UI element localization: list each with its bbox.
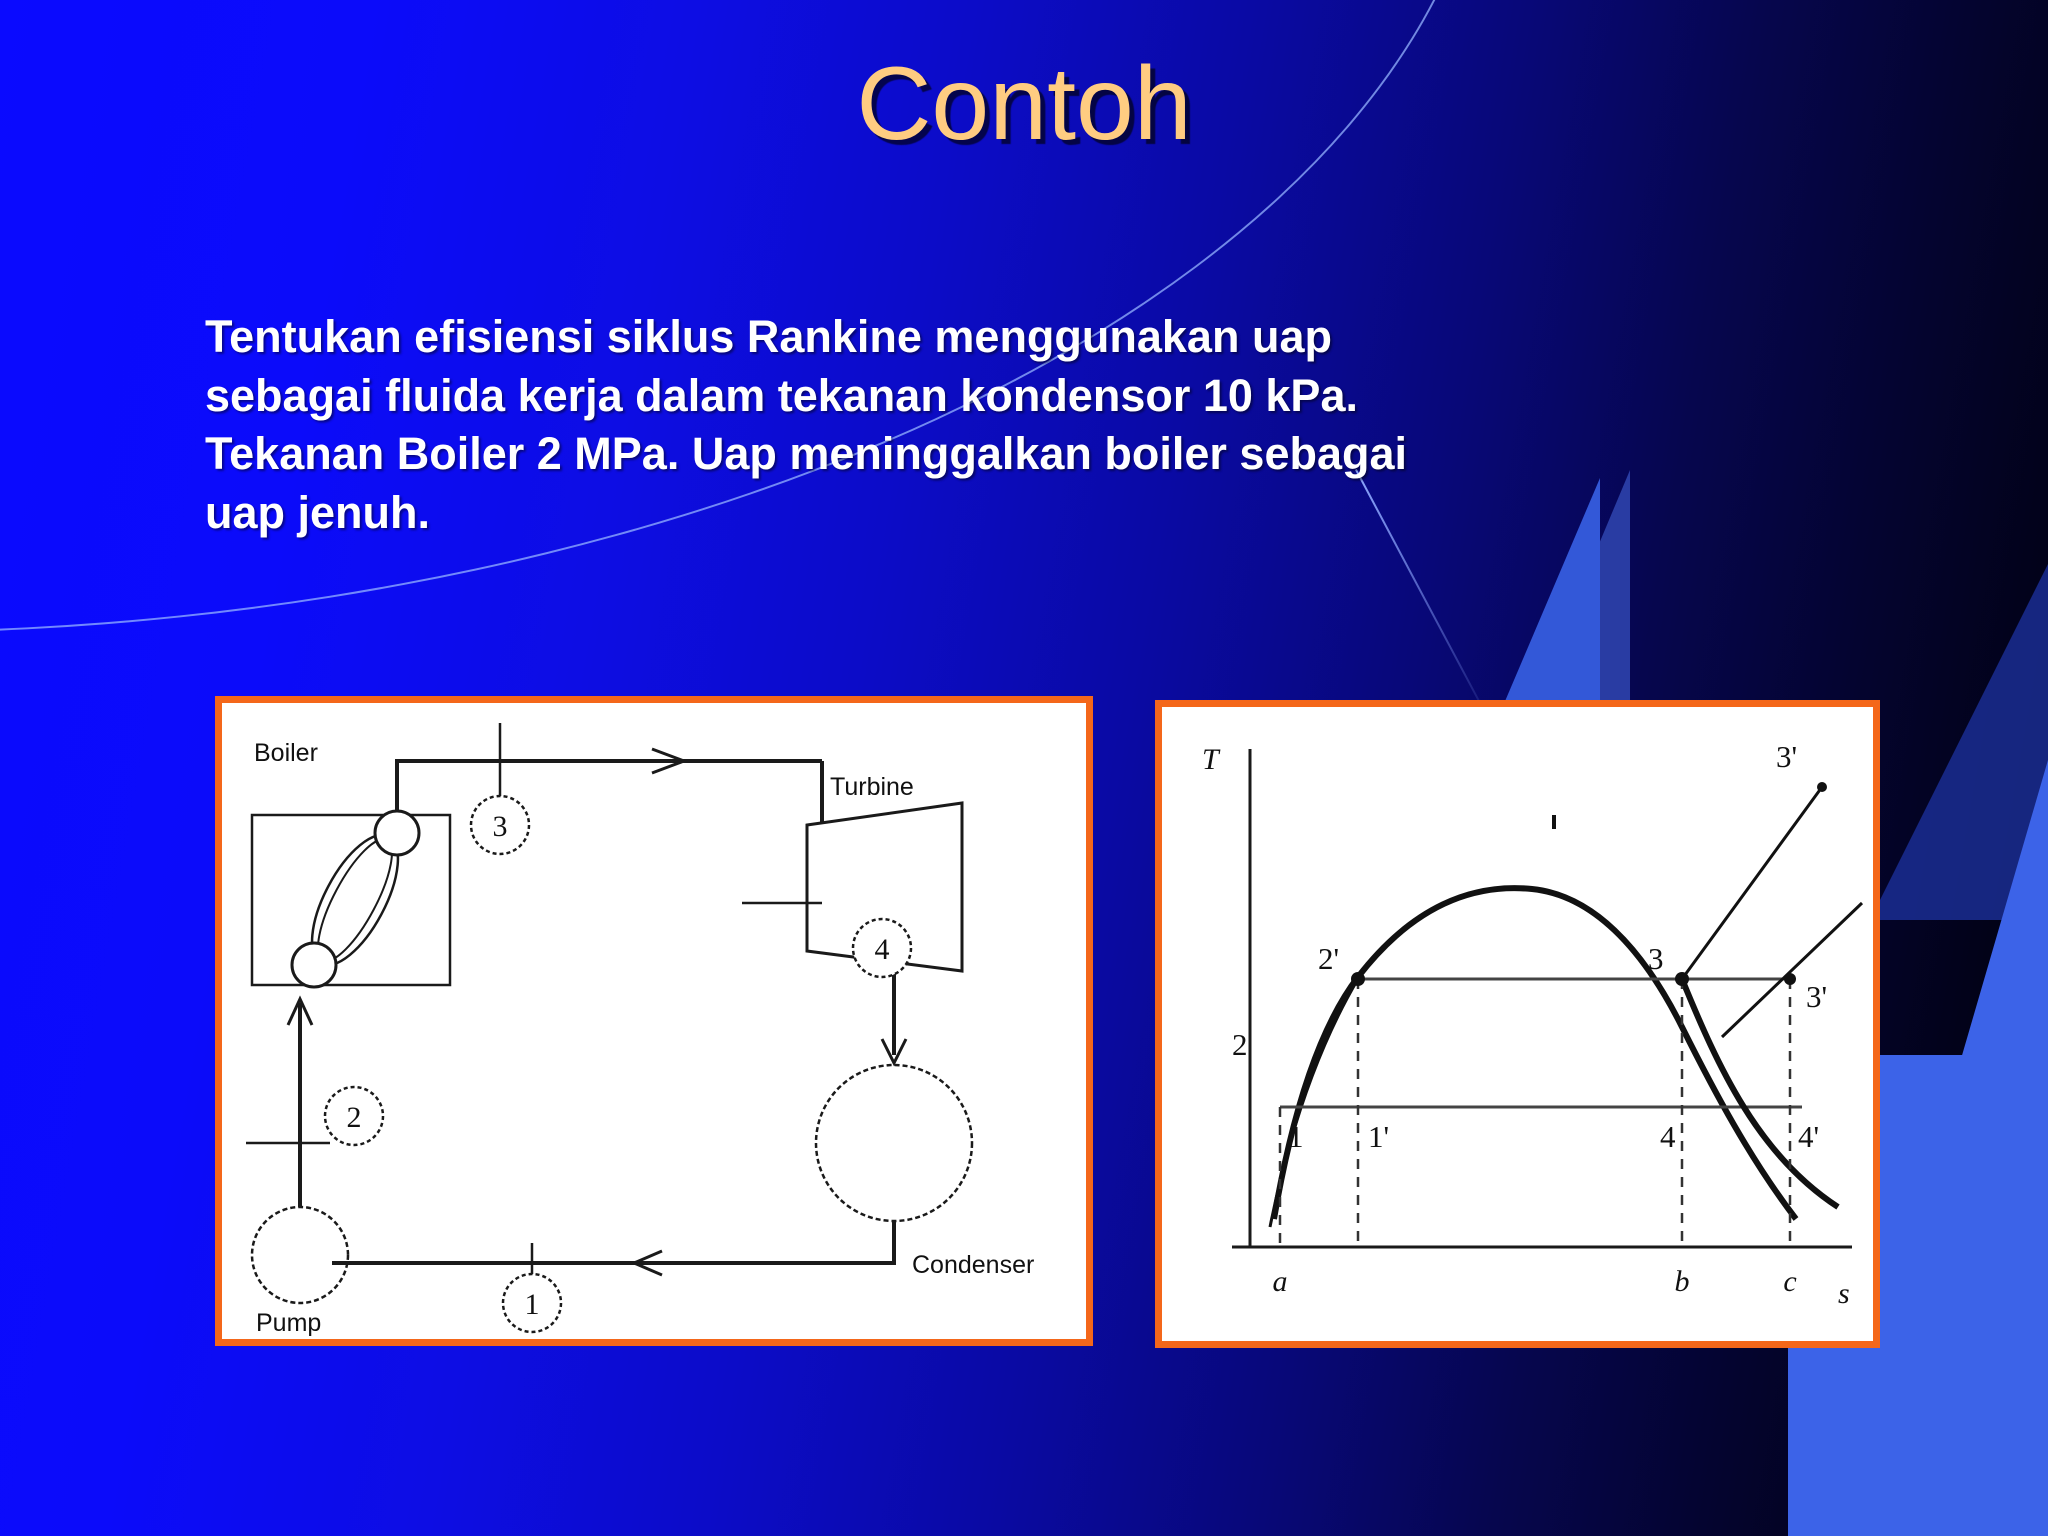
condenser-body	[816, 1065, 972, 1221]
ts-label-3: 3	[1648, 941, 1664, 976]
ts-label-3prime-lower: 3'	[1806, 979, 1827, 1014]
ts-label-2prime: 2'	[1318, 941, 1339, 976]
ts-label-1prime: 1'	[1368, 1119, 1389, 1154]
ts-label-4: 4	[1660, 1119, 1676, 1154]
pump-label: Pump	[256, 1309, 321, 1337]
state-label-3: 3	[493, 810, 508, 843]
body-line-1: Tentukan efisiensi siklus Rankine menggu…	[205, 308, 1865, 367]
axis-label-s: s	[1838, 1277, 1850, 1310]
slide-title: Contoh	[0, 52, 2048, 156]
ts-label-1: 1	[1288, 1119, 1304, 1154]
boiler-enclosure	[252, 815, 450, 985]
state-label-1: 1	[525, 1288, 540, 1321]
ts-diagram-svg: T s a b c 2 2' 1 1' 3 3' 3' 4 4'	[1162, 707, 1873, 1341]
boiler-drum-top	[375, 811, 419, 855]
boiler-drum-bottom	[292, 943, 336, 987]
pipe-boiler-to-turbine	[397, 761, 822, 811]
superheat-line-upper	[1682, 787, 1822, 979]
body-line-4: uap jenuh.	[205, 484, 1865, 543]
condenser-label: Condenser	[912, 1251, 1034, 1279]
point-3	[1675, 972, 1689, 986]
compressed-liquid-curve	[1270, 979, 1358, 1227]
ts-label-3prime-upper: 3'	[1776, 739, 1797, 774]
point-3prime-upper	[1817, 782, 1827, 792]
state-point-markers	[1351, 782, 1827, 986]
axis-label-T: T	[1202, 743, 1221, 776]
slide-body-text: Tentukan efisiensi siklus Rankine menggu…	[205, 308, 1865, 542]
body-line-3: Tekanan Boiler 2 MPa. Uap meninggalkan b…	[205, 425, 1865, 484]
state-label-2: 2	[347, 1101, 362, 1134]
boiler-label: Boiler	[254, 739, 318, 767]
slide-canvas: Contoh Tentukan efisiensi siklus Rankine…	[0, 0, 2048, 1536]
xtick-a: a	[1273, 1265, 1288, 1298]
superheat-line-lower	[1722, 903, 1862, 1037]
ts-diagram-figure: T s a b c 2 2' 1 1' 3 3' 3' 4 4'	[1155, 700, 1880, 1348]
point-2prime	[1351, 972, 1365, 986]
pipe-condenser-to-pump	[332, 1221, 894, 1263]
xtick-b: b	[1675, 1265, 1690, 1298]
point-3prime-lower	[1784, 973, 1796, 985]
rankine-cycle-figure: 3 4 2 1 Boiler Turbine Condenser Pump	[215, 696, 1093, 1346]
turbine-label: Turbine	[830, 773, 914, 801]
body-line-2: sebagai fluida kerja dalam tekanan konde…	[205, 367, 1865, 426]
ts-label-4prime: 4'	[1798, 1119, 1819, 1154]
ts-label-2: 2	[1232, 1027, 1248, 1062]
xtick-c: c	[1783, 1265, 1796, 1298]
state-label-4: 4	[875, 933, 890, 966]
rankine-cycle-svg: 3 4 2 1 Boiler Turbine Condenser Pump	[222, 703, 1086, 1339]
pump-body	[252, 1207, 348, 1303]
